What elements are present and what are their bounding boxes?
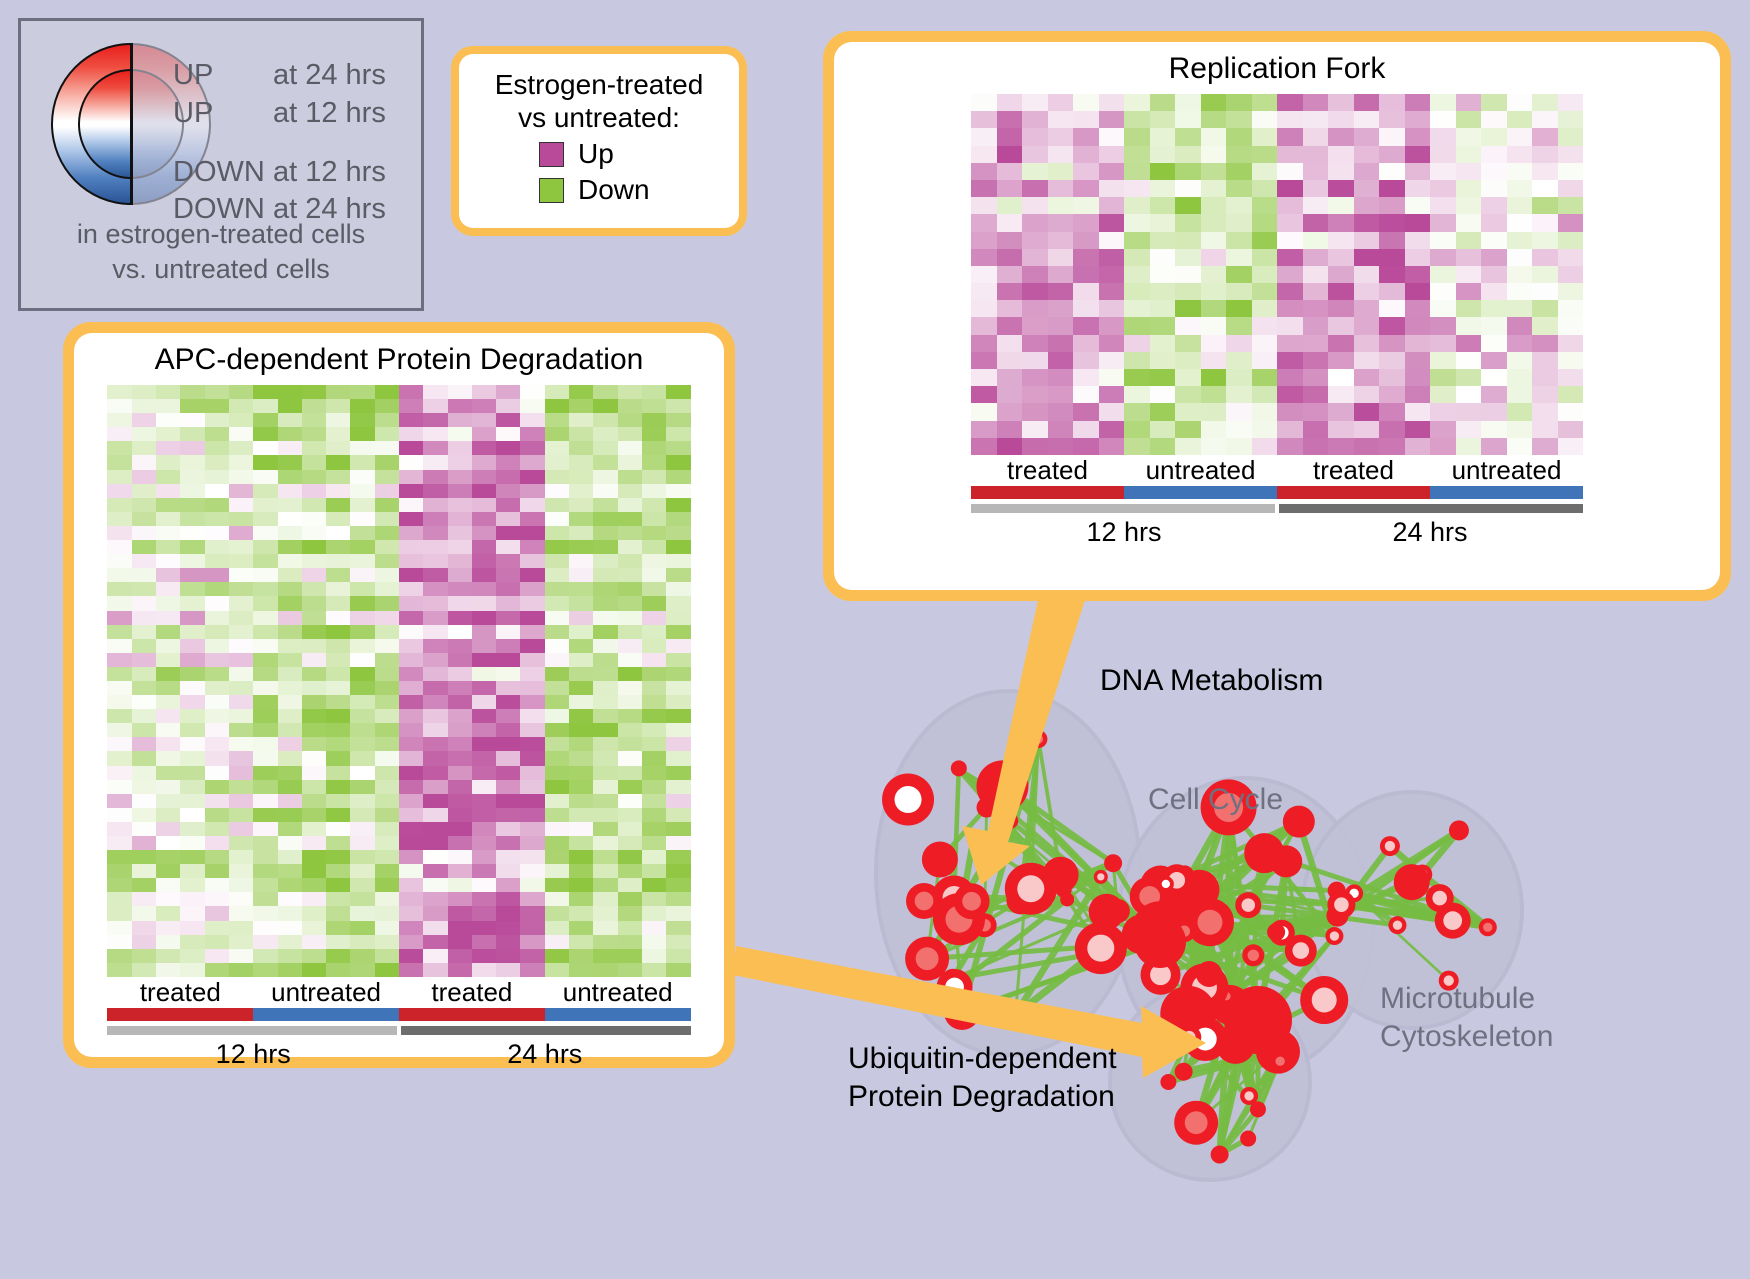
heatmap-cell (1277, 335, 1303, 352)
heatmap-cell (1558, 180, 1584, 197)
heatmap-cell (1175, 403, 1201, 420)
heatmap-cell (229, 582, 253, 596)
heatmap-cell (1379, 146, 1405, 163)
heatmap-cell (1481, 300, 1507, 317)
heatmap-cell (156, 455, 180, 469)
cluster-label-microtubule-line2: Cytoskeleton (1380, 1018, 1553, 1056)
heatmap-cell (1481, 232, 1507, 249)
heatmap-cell (326, 639, 350, 653)
heatmap-cell (1430, 163, 1456, 180)
heatmap-cell (520, 568, 544, 582)
heatmap-cell (1175, 283, 1201, 300)
heatmap-cell (156, 766, 180, 780)
heatmap-cell (1124, 232, 1150, 249)
heatmap-cell (205, 484, 229, 498)
heatmap-cell (132, 681, 156, 695)
heatmap-cell (496, 822, 520, 836)
heatmap-cell (448, 836, 472, 850)
heatmap-cell (1048, 403, 1074, 420)
heatmap-cell (593, 470, 617, 484)
heatmap-row (971, 94, 1583, 111)
heatmap-cell (1226, 283, 1252, 300)
heatmap-cell (666, 498, 690, 512)
heatmap-cell (375, 864, 399, 878)
heatmap-cell (642, 695, 666, 709)
heatmap-cell (618, 625, 642, 639)
heatmap-cell (1328, 146, 1354, 163)
heatmap-cell (156, 498, 180, 512)
heatmap-cell (350, 470, 374, 484)
heatmap-cell (1277, 249, 1303, 266)
heatmap-cell (593, 780, 617, 794)
heatmap-cell (399, 878, 423, 892)
timepoint-label-1: 24 hrs (399, 1039, 691, 1070)
heatmap-cell (375, 892, 399, 906)
heatmap-cell (375, 568, 399, 582)
heatmap-cell (326, 625, 350, 639)
heatmap-cell (350, 681, 374, 695)
heatmap-cell (545, 512, 569, 526)
heatmap-cell (205, 709, 229, 723)
heatmap-cell (423, 413, 447, 427)
heatmap-cell (1430, 214, 1456, 231)
heatmap-cell (1532, 283, 1558, 300)
group-label-3: untreated (545, 977, 691, 1008)
heatmap-cell (253, 921, 277, 935)
network-node-center (1292, 942, 1309, 959)
heatmap-cell (278, 611, 302, 625)
heatmap-cell (666, 385, 690, 399)
heatmap-cell (1175, 180, 1201, 197)
heatmap-cell (1507, 163, 1533, 180)
heatmap-cell (1328, 386, 1354, 403)
heatmap-cell (423, 766, 447, 780)
heatmap-cell (375, 766, 399, 780)
heatmap-cell (1405, 438, 1431, 455)
heatmap-cell (156, 526, 180, 540)
heatmap-cell (205, 554, 229, 568)
heatmap-cell (278, 737, 302, 751)
heatmap-cell (448, 850, 472, 864)
heatmap-cell (1354, 335, 1380, 352)
heatmap-cell (350, 935, 374, 949)
heatmap-cell (205, 639, 229, 653)
heatmap-cell (229, 963, 253, 977)
heatmap-cell (971, 128, 997, 145)
heatmap-row (107, 695, 690, 709)
heatmap-cell (1532, 128, 1558, 145)
heatmap-cell (448, 780, 472, 794)
heatmap-cell (642, 498, 666, 512)
heatmap-cell (278, 498, 302, 512)
heatmap-cell (156, 695, 180, 709)
heatmap-cell (399, 568, 423, 582)
heatmap-cell (545, 526, 569, 540)
heatmap-cell (1277, 163, 1303, 180)
heatmap-cell (1277, 180, 1303, 197)
heatmap-cell (253, 681, 277, 695)
heatmap-cell (520, 625, 544, 639)
heatmap-cell (569, 582, 593, 596)
heatmap-cell (1532, 146, 1558, 163)
heatmap-cell (1048, 146, 1074, 163)
heatmap-cell (205, 385, 229, 399)
heatmap-cell (520, 836, 544, 850)
heatmap-cell (1073, 300, 1099, 317)
heatmap-replication-fork (971, 94, 1583, 455)
heatmap-cell (375, 625, 399, 639)
heatmap-cell (1507, 403, 1533, 420)
heatmap-cell (302, 639, 326, 653)
heatmap-cell (326, 737, 350, 751)
heatmap-cell (569, 864, 593, 878)
heatmap-cell (1456, 352, 1482, 369)
heatmap-cell (1048, 438, 1074, 455)
heatmap-cell (1124, 421, 1150, 438)
heatmap-cell (1073, 421, 1099, 438)
heatmap-cell (156, 836, 180, 850)
heatmap-cell (971, 386, 997, 403)
heatmap-cell (253, 498, 277, 512)
heatmap-cell (399, 639, 423, 653)
heatmap-cell (156, 470, 180, 484)
heatmap-cell (666, 963, 690, 977)
heatmap-cell (1277, 266, 1303, 283)
heatmap-cell (180, 751, 204, 765)
heatmap-cell (229, 554, 253, 568)
heatmap-cell (1481, 438, 1507, 455)
heatmap-cell (423, 639, 447, 653)
heatmap-cell (205, 850, 229, 864)
heatmap-cell (350, 963, 374, 977)
heatmap-row (971, 128, 1583, 145)
heatmap-cell (1252, 146, 1278, 163)
heatmap-cell (1456, 386, 1482, 403)
heatmap-cell (302, 554, 326, 568)
heatmap-cell (593, 540, 617, 554)
heatmap-cell (642, 935, 666, 949)
heatmap-cell (1175, 369, 1201, 386)
heatmap-cell (1099, 197, 1125, 214)
heatmap-cell (569, 427, 593, 441)
heatmap-cell (642, 455, 666, 469)
heatmap-cell (350, 737, 374, 751)
heatmap-row (971, 335, 1583, 352)
heatmap-cell (350, 780, 374, 794)
heatmap-row (107, 427, 690, 441)
heatmap-cell (448, 794, 472, 808)
heatmap-cell (1379, 266, 1405, 283)
heatmap-cell (642, 878, 666, 892)
heatmap-cell (1456, 214, 1482, 231)
heatmap-cell (1456, 421, 1482, 438)
heatmap-cell (350, 611, 374, 625)
heatmap-cell (107, 596, 131, 610)
heatmap-cell (350, 455, 374, 469)
heatmap-cell (302, 836, 326, 850)
heatmap-cell (375, 470, 399, 484)
axis-replication-fork: treated untreated treated untreated 12 h… (971, 455, 1583, 548)
heatmap-cell (1481, 369, 1507, 386)
heatmap-cell (971, 335, 997, 352)
network-node-center (1248, 950, 1259, 961)
heatmap-cell (1430, 438, 1456, 455)
heatmap-cell (229, 794, 253, 808)
heatmap-cell (1226, 232, 1252, 249)
heatmap-cell (642, 554, 666, 568)
heatmap-cell (423, 568, 447, 582)
heatmap-cell (326, 878, 350, 892)
heatmap-cell (1150, 214, 1176, 231)
heatmap-cell (1303, 317, 1329, 334)
heatmap-cell (448, 441, 472, 455)
heatmap-cell (375, 554, 399, 568)
heatmap-cell (642, 470, 666, 484)
heatmap-cell (1277, 352, 1303, 369)
heatmap-cell (1277, 197, 1303, 214)
network-node-center (1393, 920, 1402, 929)
heatmap-cell (399, 780, 423, 794)
heatmap-cell (1150, 180, 1176, 197)
heatmap-cell (520, 766, 544, 780)
network-node (1106, 899, 1130, 923)
heatmap-cell (205, 596, 229, 610)
heatmap-cell (1175, 386, 1201, 403)
up-color-swatch (539, 142, 564, 167)
heatmap-cell (423, 681, 447, 695)
heatmap-cell (1481, 146, 1507, 163)
heatmap-cell (1201, 369, 1227, 386)
heatmap-cell (399, 794, 423, 808)
heatmap-cell (1405, 197, 1431, 214)
heatmap-cell (132, 850, 156, 864)
heatmap-cell (1532, 403, 1558, 420)
heatmap-cell (496, 794, 520, 808)
network-node (1056, 882, 1072, 898)
heatmap-cell (1175, 249, 1201, 266)
heatmap-cell (1099, 438, 1125, 455)
heatmap-cell (229, 921, 253, 935)
heatmap-cell (1073, 128, 1099, 145)
heatmap-cell (593, 921, 617, 935)
heatmap-cell (156, 385, 180, 399)
heatmap-cell (326, 681, 350, 695)
heatmap-cell (496, 963, 520, 977)
heatmap-cell (278, 639, 302, 653)
heatmap-cell (1226, 352, 1252, 369)
heatmap-cell (618, 413, 642, 427)
heatmap-cell (1124, 335, 1150, 352)
heatmap-cell (1354, 403, 1380, 420)
heatmap-cell (253, 794, 277, 808)
heatmap-cell (618, 921, 642, 935)
heatmap-cell (1405, 352, 1431, 369)
heatmap-cell (375, 512, 399, 526)
heatmap-cell (472, 963, 496, 977)
heatmap-cell (472, 554, 496, 568)
heatmap-cell (253, 737, 277, 751)
ring-vertical-axis (130, 43, 133, 205)
heatmap-cell (326, 455, 350, 469)
heatmap-cell (229, 906, 253, 920)
network-node-center (1087, 935, 1114, 962)
heatmap-cell (593, 611, 617, 625)
group-bar-treated (399, 1008, 545, 1021)
heatmap-cell (545, 568, 569, 582)
heatmap-cell (593, 794, 617, 808)
heatmap-cell (593, 427, 617, 441)
heatmap-cell (253, 568, 277, 582)
heatmap-cell (520, 695, 544, 709)
network-node-center (916, 947, 939, 970)
heatmap-cell (1175, 128, 1201, 145)
heatmap-cell (1354, 300, 1380, 317)
gene-network-graph (790, 620, 1750, 1279)
heatmap-cell (448, 399, 472, 413)
heatmap-cell (472, 441, 496, 455)
heatmap-cell (156, 822, 180, 836)
heatmap-cell (132, 596, 156, 610)
heatmap-cell (107, 949, 131, 963)
heatmap-cell (350, 878, 374, 892)
heatmap-cell (593, 878, 617, 892)
heatmap-cell (472, 737, 496, 751)
heatmap-cell (593, 864, 617, 878)
heatmap-row (107, 667, 690, 681)
heatmap-cell (302, 766, 326, 780)
heatmap-cell (1073, 197, 1099, 214)
heatmap-cell (302, 455, 326, 469)
heatmap-row (971, 352, 1583, 369)
network-node-center (1244, 1091, 1253, 1100)
heatmap-cell (496, 921, 520, 935)
heatmap-cell (205, 794, 229, 808)
heatmap-cell (1456, 369, 1482, 386)
heatmap-cell (350, 836, 374, 850)
heatmap-cell (1558, 438, 1584, 455)
heatmap-cell (326, 568, 350, 582)
heatmap-cell (180, 413, 204, 427)
heatmap-cell (205, 611, 229, 625)
heatmap-cell (472, 864, 496, 878)
heatmap-cell (569, 935, 593, 949)
heatmap-cell (278, 427, 302, 441)
network-node-center (962, 892, 981, 911)
heatmap-cell (205, 766, 229, 780)
heatmap-cell (1252, 317, 1278, 334)
heatmap-cell (1430, 300, 1456, 317)
heatmap-cell (180, 836, 204, 850)
heatmap-cell (545, 794, 569, 808)
heatmap-cell (1303, 403, 1329, 420)
heatmap-cell (180, 526, 204, 540)
heatmap-cell (1430, 283, 1456, 300)
heatmap-cell (278, 949, 302, 963)
network-node-center (1312, 988, 1337, 1013)
heatmap-cell (1201, 317, 1227, 334)
heatmap-cell (1507, 352, 1533, 369)
heatmap-cell (1558, 214, 1584, 231)
heatmap-cell (253, 709, 277, 723)
heatmap-cell (1201, 111, 1227, 128)
heatmap-cell (545, 723, 569, 737)
group-bar-untreated (1430, 486, 1583, 499)
heatmap-cell (1048, 266, 1074, 283)
heatmap-cell (997, 421, 1023, 438)
heatmap-cell (399, 864, 423, 878)
network-node (1211, 1146, 1229, 1164)
heatmap-cell (156, 751, 180, 765)
heatmap-cell (229, 751, 253, 765)
heatmap-cell (545, 399, 569, 413)
heatmap-cell (1252, 232, 1278, 249)
heatmap-cell (1150, 94, 1176, 111)
heatmap-cell (666, 568, 690, 582)
heatmap-cell (1175, 335, 1201, 352)
heatmap-cell (253, 639, 277, 653)
heatmap-cell (642, 892, 666, 906)
heatmap-cell (1328, 421, 1354, 438)
heatmap-cell (229, 399, 253, 413)
heatmap-cell (618, 808, 642, 822)
heatmap-cell (107, 906, 131, 920)
heatmap-cell (326, 892, 350, 906)
network-node (922, 841, 958, 877)
heatmap-cell (1379, 163, 1405, 180)
heatmap-cell (1328, 214, 1354, 231)
heatmap-cell (1201, 197, 1227, 214)
heatmap-row (107, 906, 690, 920)
heatmap-cell (132, 935, 156, 949)
heatmap-cell (1430, 403, 1456, 420)
heatmap-cell (448, 512, 472, 526)
heatmap-cell (156, 568, 180, 582)
heatmap-cell (1252, 403, 1278, 420)
heatmap-cell (1303, 283, 1329, 300)
heatmap-cell (666, 695, 690, 709)
heatmap-cell (520, 554, 544, 568)
heatmap-cell (1277, 386, 1303, 403)
heatmap-cell (132, 949, 156, 963)
heatmap-cell (399, 850, 423, 864)
heatmap-cell (593, 723, 617, 737)
heatmap-cell (278, 413, 302, 427)
heatmap-cell (302, 512, 326, 526)
heatmap-cell (496, 441, 520, 455)
heatmap-cell (520, 822, 544, 836)
heatmap-cell (1277, 421, 1303, 438)
heatmap-cell (205, 498, 229, 512)
heatmap-cell (448, 611, 472, 625)
heatmap-cell (375, 639, 399, 653)
heatmap-cell (107, 836, 131, 850)
heatmap-cell (229, 766, 253, 780)
heatmap-cell (520, 427, 544, 441)
heatmap-cell (618, 582, 642, 596)
heatmap-cell (350, 540, 374, 554)
heatmap-cell (1328, 335, 1354, 352)
heatmap-cell (569, 892, 593, 906)
heatmap-cell (642, 653, 666, 667)
network-node-center (1034, 734, 1043, 743)
heatmap-cell (520, 709, 544, 723)
heatmap-cell (1252, 266, 1278, 283)
heatmap-cell (132, 906, 156, 920)
heatmap-cell (520, 780, 544, 794)
heatmap-cell (1150, 266, 1176, 283)
heatmap-cell (1226, 128, 1252, 145)
heatmap-cell (399, 625, 423, 639)
